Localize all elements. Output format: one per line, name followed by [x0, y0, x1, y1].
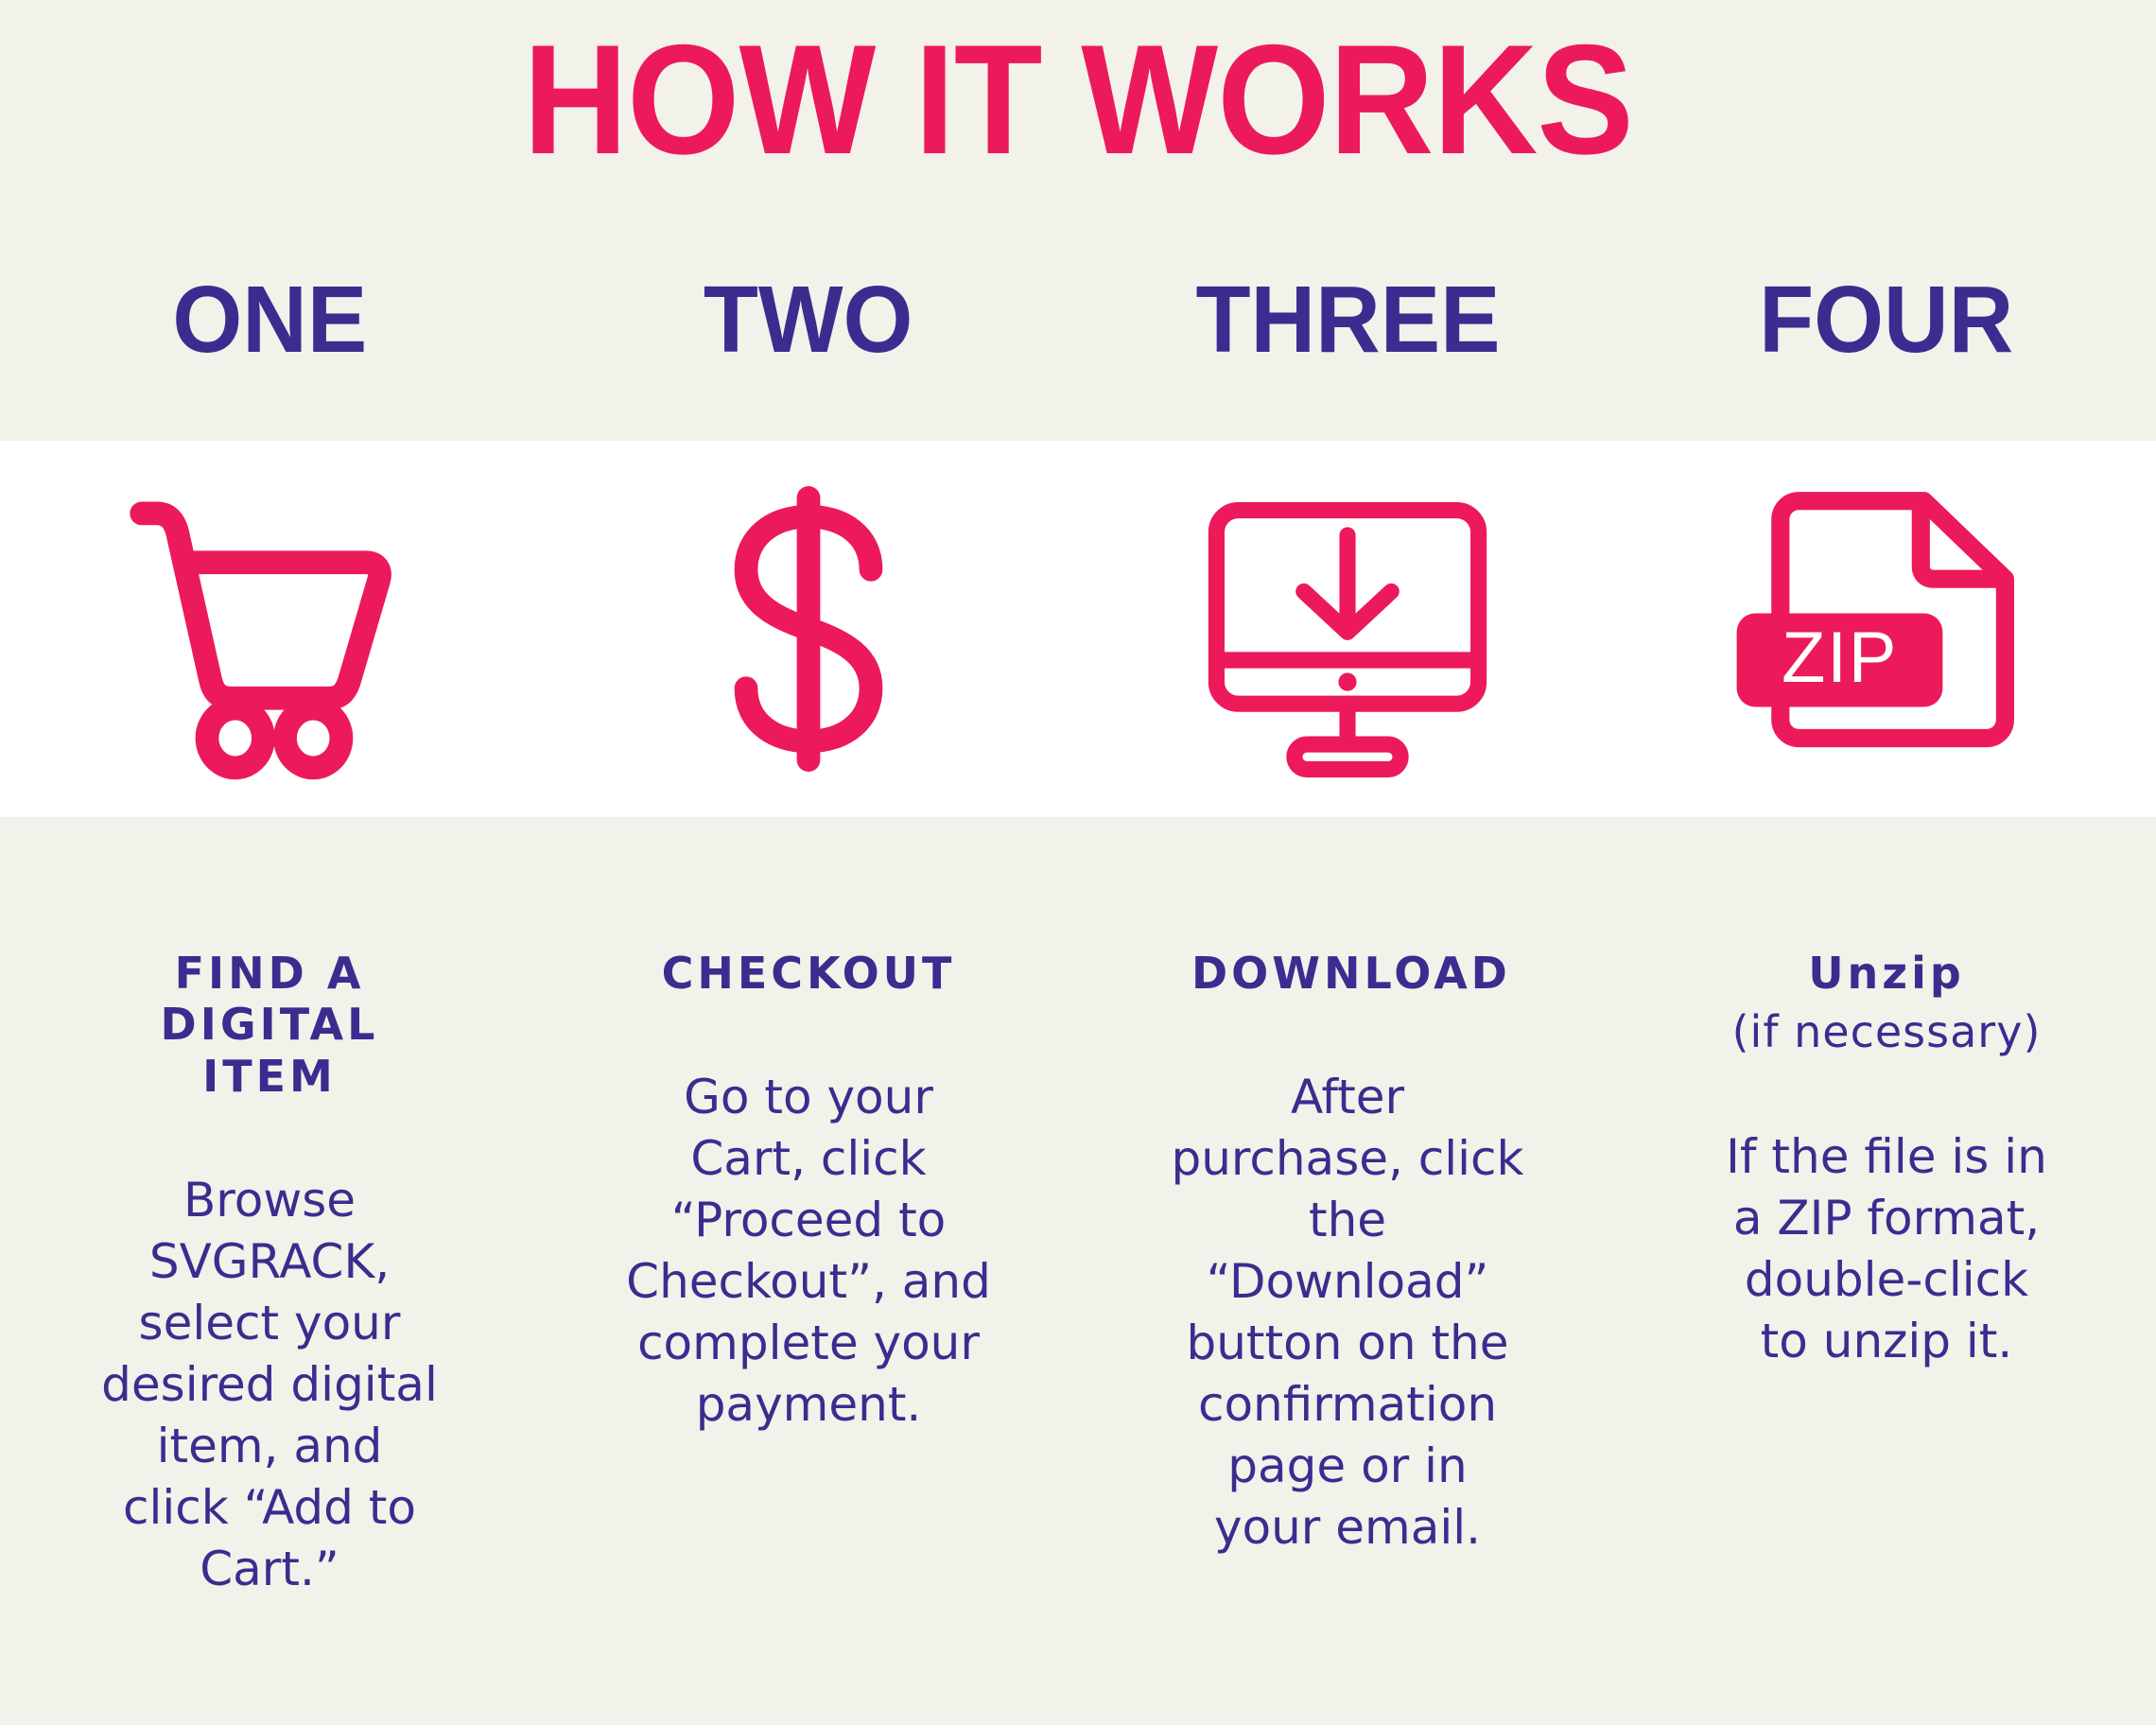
monitor-power-dot [1338, 673, 1356, 691]
step-numbers-row: ONE TWO THREE FOUR [0, 199, 2156, 441]
step-four-heading: Unzip [1808, 948, 1965, 999]
step-three-heading: DOWNLOAD [1191, 948, 1504, 999]
step-four-subheading: (if necessary) [1732, 1006, 2042, 1057]
step-column-one: FIND A DIGITAL ITEM Browse SVGRACK, sele… [0, 817, 539, 1725]
zip-badge-label: ZIP [1782, 618, 1898, 698]
step-number-cell-four: FOUR [1617, 199, 2156, 441]
icon-cell-one [0, 441, 539, 817]
title-band: HOW IT WORKS [0, 0, 2156, 199]
zip-file-icon: ZIP [1730, 473, 2043, 785]
step-number-cell-two: TWO [539, 199, 1078, 441]
how-it-works-infographic: HOW IT WORKS ONE TWO THREE FOUR [0, 0, 2156, 1725]
step-three-body: After purchase, click the “Download” but… [1168, 1067, 1527, 1559]
icon-band: ZIP [0, 441, 2156, 817]
step-number-three: THREE [1195, 272, 1500, 367]
step-four-body: If the file is in a ZIP format, double-c… [1716, 1126, 2057, 1372]
step-two-heading: CHECKOUT [662, 948, 956, 999]
step-number-one: ONE [172, 272, 367, 367]
icon-cell-three [1078, 441, 1617, 817]
step-number-four: FOUR [1759, 272, 2013, 367]
icon-cell-two [539, 441, 1078, 817]
step-number-two: TWO [704, 272, 913, 367]
monitor-download-icon [1191, 473, 1504, 785]
step-column-four: Unzip (if necessary) If the file is in a… [1617, 817, 2156, 1725]
shopping-cart-icon [113, 473, 426, 785]
step-one-heading: FIND A DIGITAL ITEM [113, 948, 426, 1102]
body-columns: FIND A DIGITAL ITEM Browse SVGRACK, sele… [0, 817, 2156, 1725]
step-number-cell-one: ONE [0, 199, 539, 441]
step-two-body: Go to your Cart, click “Proceed to Check… [624, 1067, 993, 1436]
dollar-sign-icon [652, 473, 965, 785]
step-column-three: DOWNLOAD After purchase, click the “Down… [1078, 817, 1617, 1725]
step-column-two: CHECKOUT Go to your Cart, click “Proceed… [539, 817, 1078, 1725]
step-one-body: Browse SVGRACK, select your desired digi… [99, 1170, 440, 1600]
page-title: HOW IT WORKS [523, 22, 1633, 178]
step-number-cell-three: THREE [1078, 199, 1617, 441]
icon-cell-four: ZIP [1617, 441, 2156, 817]
